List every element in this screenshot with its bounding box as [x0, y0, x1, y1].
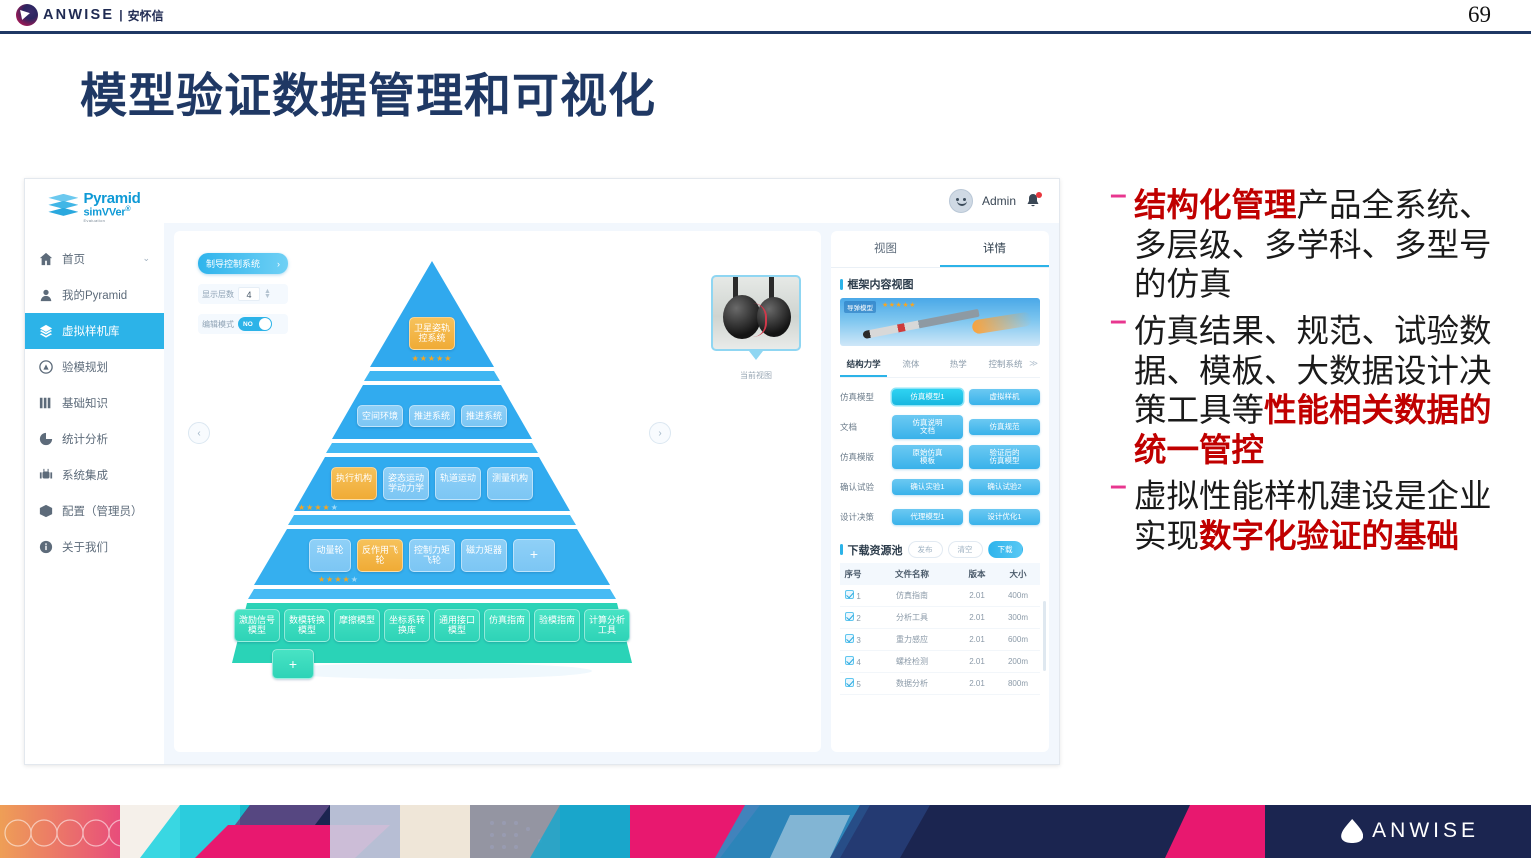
detail-chip[interactable]: 仿真模型1 — [892, 389, 963, 405]
download-pool-header: 下载资源池 发布 清空 下载 — [831, 532, 1049, 563]
detail-chip[interactable]: 仿真规范 — [969, 419, 1040, 435]
sidebar-label: 验模规划 — [62, 359, 108, 375]
robot-icon — [39, 468, 53, 482]
logo-line-2: simVVer® — [83, 206, 140, 219]
row-index-cell: 3 — [840, 629, 866, 651]
detail-tabs: 视图 详情 — [831, 231, 1049, 268]
version-cell: 2.01 — [958, 607, 996, 629]
logo-line-3: Evaluation — [83, 219, 140, 223]
detail-chip[interactable]: 代理模型1 — [892, 509, 963, 525]
column-header: 版本 — [958, 563, 996, 585]
size-cell: 800m — [996, 673, 1040, 695]
row-label: 文档 — [840, 421, 886, 433]
sidebar-label: 基础知识 — [62, 395, 108, 411]
detail-chip[interactable]: 设计优化1 — [969, 509, 1040, 525]
pyramid-logo: Pyramid simVVer® Evaluation — [25, 179, 164, 229]
section-accent-bar — [840, 279, 843, 290]
table-row[interactable]: 1 仿真指南 2.01 400m — [840, 585, 1040, 607]
version-cell: 2.01 — [958, 629, 996, 651]
download-pool-table: 序号 文件名称 版本 大小 1 仿真指南 2.01 400m — [840, 563, 1040, 695]
row-index-cell: 1 — [840, 585, 866, 607]
pyramid-tier-5: 激励信号 模型 数模转换 模型 摩擦模型 坐标系转 换库 通用接口 模型 仿真指… — [232, 609, 632, 679]
add-base-node-button[interactable]: + — [272, 649, 314, 679]
anwise-logo-icon — [16, 4, 38, 26]
avatar[interactable] — [949, 189, 973, 213]
pyramid-node[interactable]: 通用接口 模型 — [434, 609, 480, 642]
footer-brand-text: ANWISE — [1372, 819, 1479, 843]
sidebar-label: 统计分析 — [62, 431, 108, 447]
pyramid-layers-icon — [48, 194, 78, 220]
row-index-cell: 4 — [840, 651, 866, 673]
row-index-cell: 2 — [840, 607, 866, 629]
row-checkbox[interactable] — [845, 656, 854, 665]
tier-4-stars: ★★★★★ — [232, 575, 632, 584]
app-header: Admin — [164, 179, 1059, 223]
next-arrow-button[interactable]: › — [649, 422, 671, 444]
detail-chip[interactable]: 确认实验1 — [892, 479, 963, 495]
home-icon — [39, 252, 53, 266]
sidebar-item-virtual-prototype[interactable]: 虚拟样机库 — [25, 313, 164, 349]
bullet-text: 结构化管理产品全系统、多层级、多学科、多型号的仿真 — [1134, 186, 1520, 305]
bullet-dash: – — [1110, 312, 1126, 471]
section-title: 框架内容视图 — [848, 276, 914, 292]
detail-row: 确认试验 确认实验1 确认试验2 — [840, 472, 1040, 502]
tab-view[interactable]: 视图 — [831, 231, 940, 267]
layers-label: 显示层数 — [202, 289, 234, 300]
file-name-cell: 重力感应 — [866, 629, 958, 651]
row-index-cell: 5 — [840, 673, 866, 695]
table-header-row: 序号 文件名称 版本 大小 — [840, 563, 1040, 585]
pool-accent-bar — [840, 544, 843, 555]
pyramid-node[interactable]: 测量机构 — [487, 467, 533, 500]
detail-chip[interactable]: 仿真说明 文档 — [892, 415, 963, 440]
bullet-highlight: 结构化管理 — [1134, 186, 1297, 224]
bullet-item: – 仿真结果、规范、试验数据、模板、大数据设计决策工具等性能相关数据的统一管控 — [1110, 312, 1520, 471]
pyramid-node[interactable]: 轨道运动 — [435, 467, 481, 500]
page-number: 69 — [1468, 2, 1491, 28]
pyramid-node[interactable]: 激励信号 模型 — [234, 609, 280, 642]
notification-dot — [1036, 192, 1042, 198]
thumbnail-caption: 当前视图 — [711, 370, 801, 381]
footer-graphic — [0, 805, 1531, 858]
chevron-down-icon[interactable]: ⌄ — [142, 253, 150, 264]
subtab-control[interactable]: 控制系统 — [982, 353, 1029, 377]
detail-chip[interactable]: 确认试验2 — [969, 479, 1040, 495]
clear-button[interactable]: 清空 — [948, 541, 983, 558]
slide-topbar: ANWISE | 安怀信 69 — [0, 0, 1531, 31]
subtab-structural[interactable]: 结构力学 — [840, 353, 887, 377]
pyramid-diagram: 卫星姿轨 控系统 ★★★★★ 空间环境 推进系统 推进系统 — [232, 259, 632, 679]
column-header: 文件名称 — [866, 563, 958, 585]
detail-row: 设计决策 代理模型1 设计优化1 — [840, 502, 1040, 532]
pyramid-node[interactable]: 坐标系转 换库 — [384, 609, 430, 642]
pyramid-node[interactable]: 执行机构 — [331, 467, 377, 500]
sidebar-item-home[interactable]: 首页 ⌄ — [25, 241, 164, 277]
user-name: Admin — [982, 194, 1016, 208]
bullet-text: 仿真结果、规范、试验数据、模板、大数据设计决策工具等性能相关数据的统一管控 — [1134, 312, 1520, 471]
slide-root: ANWISE | 安怀信 69 模型验证数据管理和可视化 Pyramid sim… — [0, 0, 1531, 858]
pyramid-node[interactable]: 动量轮 — [309, 539, 351, 572]
size-cell: 300m — [996, 607, 1040, 629]
version-cell: 2.01 — [958, 673, 996, 695]
tier-3-stars: ★★★★★ — [232, 503, 632, 512]
app-sidebar: Pyramid simVVer® Evaluation 首页 ⌄ 我的Pyram… — [25, 179, 164, 764]
detail-chip[interactable]: 原始仿真 模板 — [892, 445, 963, 470]
detail-chip[interactable]: 虚拟样机 — [969, 389, 1040, 405]
sidebar-item-statistics[interactable]: 统计分析 — [25, 421, 164, 457]
pyramid-node[interactable]: 仿真指南 — [484, 609, 530, 642]
tab-details[interactable]: 详情 — [940, 231, 1049, 267]
file-name-cell: 螺栓检测 — [866, 651, 958, 673]
bullet-dash: – — [1110, 477, 1126, 556]
row-label: 设计决策 — [840, 511, 886, 523]
pool-scrollbar[interactable] — [1043, 601, 1046, 671]
pyramid-node[interactable]: 控制力矩 飞轮 — [409, 539, 455, 572]
layers-icon — [39, 324, 53, 338]
file-name-cell: 仿真指南 — [866, 585, 958, 607]
row-checkbox[interactable] — [845, 678, 854, 687]
pyramid-node[interactable]: 反作用飞 轮 — [357, 539, 403, 572]
pyramid-node[interactable]: 磁力矩器 — [461, 539, 507, 572]
size-cell: 400m — [996, 585, 1040, 607]
bell-icon[interactable] — [1025, 193, 1041, 209]
detail-panel: ‹ 视图 详情 框架内容视图 导弹模型 ★★★★★ — [831, 231, 1049, 752]
bullet-text: 虚拟性能样机建设是企业实现数字化验证的基础 — [1134, 477, 1520, 556]
row-label: 仿真模版 — [840, 451, 886, 463]
sidebar-label: 虚拟样机库 — [62, 323, 120, 339]
info-icon — [39, 540, 53, 554]
sidebar-item-about-us[interactable]: 关于我们 — [25, 529, 164, 565]
missile-model-preview[interactable]: 导弹模型 ★★★★★ — [840, 298, 1040, 346]
row-checkbox[interactable] — [845, 612, 854, 621]
topbar-divider — [0, 31, 1531, 34]
target-icon — [39, 360, 53, 374]
size-cell: 200m — [996, 651, 1040, 673]
pyramid-tier-3: 执行机构 姿态运动 学动力学 轨道运动 测量机构 ★★★★★ — [232, 467, 632, 512]
thumbnail-pointer — [749, 351, 763, 360]
detail-row: 文档 仿真说明 文档 仿真规范 — [840, 412, 1040, 442]
discipline-subtabs: 结构力学 流体 热学 控制系统 ≫ — [840, 353, 1040, 378]
pyramid-node[interactable]: 卫星姿轨 控系统 — [409, 317, 455, 350]
size-cell: 600m — [996, 629, 1040, 651]
edit-mode-label: 编辑模式 — [202, 319, 234, 330]
bullet-dash: – — [1110, 186, 1126, 305]
publish-button[interactable]: 发布 — [908, 541, 943, 558]
sidebar-item-configuration[interactable]: 配置（管理员） — [25, 493, 164, 529]
detail-chip[interactable]: 验证后的 仿真模型 — [969, 445, 1040, 470]
pyramid-node[interactable]: 空间环境 — [357, 405, 403, 427]
pyramid-node[interactable]: 姿态运动 学动力学 — [383, 467, 429, 500]
flame-graphic — [971, 311, 1032, 334]
sidebar-nav: 首页 ⌄ 我的Pyramid 虚拟样机库 验模规划 基础知识 — [25, 241, 164, 565]
column-header: 序号 — [840, 563, 866, 585]
row-label: 确认试验 — [840, 481, 886, 493]
pyramid-canvas: 制导控制系统 › 显示层数 4 ▲▼ 编辑模式 NO — [174, 231, 821, 752]
brand-cn-text: 安怀信 — [128, 7, 164, 24]
sidebar-label: 首页 — [62, 251, 85, 267]
table-row[interactable]: 2 分析工具 2.01 300m — [840, 607, 1040, 629]
add-node-button[interactable]: + — [513, 539, 555, 572]
pool-title: 下载资源池 — [848, 542, 903, 558]
app-workspace: 制导控制系统 › 显示层数 4 ▲▼ 编辑模式 NO — [164, 223, 1059, 764]
pyramid-node[interactable]: 数模转换 模型 — [284, 609, 330, 642]
subtabs-more-icon[interactable]: ≫ — [1029, 353, 1040, 377]
sidebar-label: 系统集成 — [62, 467, 108, 483]
table-row[interactable]: 4 螺栓检测 2.01 200m — [840, 651, 1040, 673]
file-name-cell: 数据分析 — [866, 673, 958, 695]
pyramid-node[interactable]: 推进系统 — [409, 405, 455, 427]
user-icon — [39, 288, 53, 302]
book-icon — [39, 396, 53, 410]
pyramid-tier-1: 卫星姿轨 控系统 ★★★★★ — [232, 317, 632, 363]
row-label: 仿真模型 — [840, 391, 886, 403]
page-title: 模型验证数据管理和可视化 — [80, 57, 656, 126]
pie-icon — [39, 432, 53, 446]
brand-divider: | — [119, 8, 122, 22]
bullet-list: – 结构化管理产品全系统、多层级、多学科、多型号的仿真 – 仿真结果、规范、试验… — [1110, 186, 1520, 564]
footer-brand: ANWISE — [1341, 819, 1479, 843]
prev-arrow-button[interactable]: ‹ — [188, 422, 210, 444]
current-view-thumbnail[interactable]: 当前视图 — [711, 275, 801, 381]
box-icon — [39, 504, 53, 518]
table-row[interactable]: 5 数据分析 2.01 800m — [840, 673, 1040, 695]
version-cell: 2.01 — [958, 651, 996, 673]
detail-row: 仿真模型 仿真模型1 虚拟样机 — [840, 382, 1040, 412]
version-cell: 2.01 — [958, 585, 996, 607]
logo-line-1: Pyramid — [83, 191, 140, 206]
sidebar-label: 配置（管理员） — [62, 503, 143, 519]
pyramid-node[interactable]: 推进系统 — [461, 405, 507, 427]
sidebar-item-my-pyramid[interactable]: 我的Pyramid — [25, 277, 164, 313]
sidebar-item-validation-plan[interactable]: 验模规划 — [25, 349, 164, 385]
detail-row: 仿真模版 原始仿真 模板 验证后的 仿真模型 — [840, 442, 1040, 472]
tier-1-stars: ★★★★★ — [232, 354, 632, 363]
framework-section-header: 框架内容视图 — [831, 268, 1049, 298]
hero-tag: 导弹模型 — [844, 301, 876, 313]
missile-graphic — [862, 309, 979, 339]
slide-footer: ANWISE — [0, 805, 1531, 858]
pyramid-tier-2: 空间环境 推进系统 推进系统 — [232, 405, 632, 427]
pyramid-node[interactable]: 摩擦模型 — [334, 609, 380, 642]
anwise-brand: ANWISE | 安怀信 — [16, 4, 164, 26]
pyramid-node[interactable]: 验模指南 — [534, 609, 580, 642]
anwise-footer-icon — [1341, 819, 1363, 843]
download-button[interactable]: 下载 — [988, 541, 1023, 558]
thumbnail-image — [711, 275, 801, 351]
subtab-fluid[interactable]: 流体 — [887, 353, 934, 377]
row-checkbox[interactable] — [845, 634, 854, 643]
column-header: 大小 — [996, 563, 1040, 585]
pyramid-tier-4: 动量轮 反作用飞 轮 控制力矩 飞轮 磁力矩器 + ★★★★★ — [232, 539, 632, 584]
row-checkbox[interactable] — [845, 590, 854, 599]
table-row[interactable]: 3 重力感应 2.01 600m — [840, 629, 1040, 651]
bullet-item: – 结构化管理产品全系统、多层级、多学科、多型号的仿真 — [1110, 186, 1520, 305]
brand-text: ANWISE — [43, 7, 114, 23]
sidebar-item-basic-knowledge[interactable]: 基础知识 — [25, 385, 164, 421]
file-name-cell: 分析工具 — [866, 607, 958, 629]
detail-grid: 仿真模型 仿真模型1 虚拟样机 文档 仿真说明 文档 仿真规范 仿真模版 原始仿… — [831, 378, 1049, 532]
app-main: Admin 制导控制系统 › 显示层数 — [164, 179, 1059, 764]
bullet-highlight: 数字化验证的基础 — [1199, 517, 1459, 555]
app-window: Pyramid simVVer® Evaluation 首页 ⌄ 我的Pyram… — [24, 178, 1060, 765]
sidebar-label: 我的Pyramid — [62, 287, 127, 303]
subtab-thermal[interactable]: 热学 — [935, 353, 982, 377]
sidebar-item-system-integration[interactable]: 系统集成 — [25, 457, 164, 493]
pyramid-node[interactable]: 计算分析 工具 — [584, 609, 630, 642]
hero-stars: ★★★★★ — [882, 301, 916, 309]
sidebar-label: 关于我们 — [62, 539, 108, 555]
bullet-item: – 虚拟性能样机建设是企业实现数字化验证的基础 — [1110, 477, 1520, 556]
